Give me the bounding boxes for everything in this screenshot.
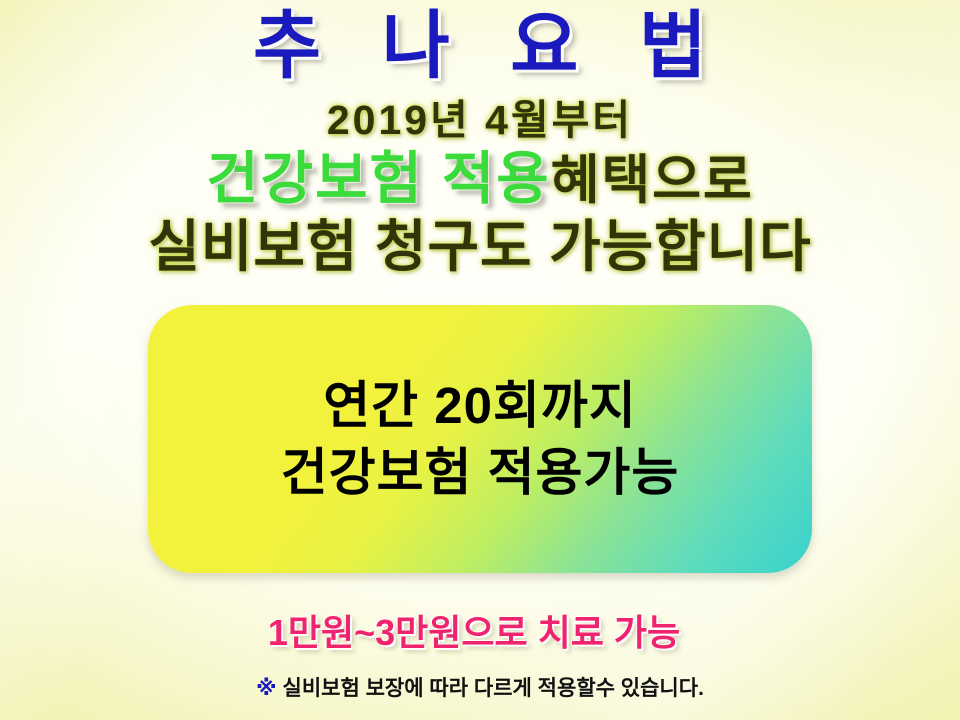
footnote-text: 실비보험 보장에 따라 다르게 적용할수 있습니다.	[283, 677, 704, 700]
footnote: ※실비보험 보장에 따라 다르게 적용할수 있습니다.	[0, 672, 960, 702]
reference-mark-icon: ※	[256, 677, 276, 700]
benefit-card-line-2: 건강보험 적용가능	[281, 439, 680, 506]
benefit-card-line-1: 연간 20회까지	[323, 372, 637, 439]
headline-highlight-insurance: 건강보험 적용	[206, 147, 550, 211]
headline-line-4-text: 실비보험 청구도 가능합니다	[148, 215, 811, 278]
price-range-text: 1만원~3만원으로 치료 가능	[0, 604, 960, 656]
poster-canvas: 추 나 요 법 2019년 4월부터 건강보험 적용혜택으로 실비보험 청구도 …	[0, 0, 960, 720]
headline-line-3: 건강보험 적용혜택으로	[0, 150, 960, 210]
benefit-card: 연간 20회까지 건강보험 적용가능	[148, 305, 812, 573]
headline-line-3-rest: 혜택으로	[551, 151, 754, 210]
headline-line-4: 실비보험 청구도 가능합니다	[0, 218, 960, 277]
poster-title: 추 나 요 법	[0, 6, 960, 86]
poster-subtitle: 2019년 4월부터	[0, 99, 960, 142]
poster-content: 추 나 요 법 2019년 4월부터 건강보험 적용혜택으로 실비보험 청구도 …	[0, 0, 960, 720]
